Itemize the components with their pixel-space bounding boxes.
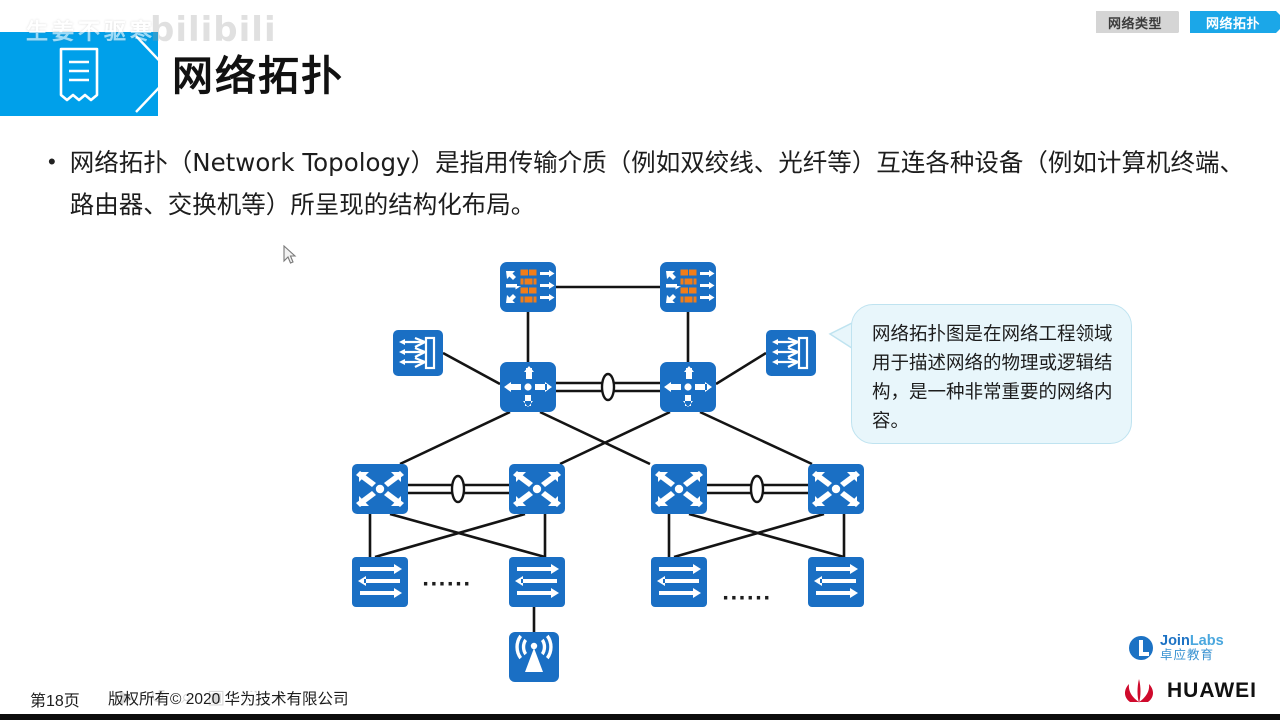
l3-switch-icon-3[interactable] bbox=[651, 464, 707, 514]
joinlabs-chinese-name: 卓应教育 bbox=[1160, 649, 1224, 662]
page-number: 第18页 bbox=[30, 687, 80, 711]
huawei-logo: HUAWEI bbox=[1120, 678, 1257, 704]
network-topology-diagram: ······ ······ bbox=[300, 232, 880, 682]
bottom-strip bbox=[0, 714, 1280, 720]
joinlabs-l-icon bbox=[1128, 635, 1154, 661]
ellipsis-left: ······ bbox=[422, 573, 471, 595]
huawei-flower-icon bbox=[1120, 678, 1158, 704]
l3-switch-icon-4[interactable] bbox=[808, 464, 864, 514]
copyright-notice: 版权所有© 2020 华为技术有限公司 bbox=[108, 687, 349, 709]
gateway-icon-left[interactable] bbox=[393, 330, 443, 376]
firewall-icon-left[interactable] bbox=[500, 262, 556, 312]
breadcrumb-label: 网络拓扑 bbox=[1206, 13, 1260, 32]
l2-switch-icon-3[interactable] bbox=[651, 557, 707, 607]
body-bullet-block: • 网络拓扑（Network Topology）是指用传输介质（例如双绞线、光纤… bbox=[48, 142, 1244, 226]
bullet-marker: • bbox=[48, 142, 56, 226]
callout-text: 网络拓扑图是在网络工程领域用于描述网络的物理或逻辑结构，是一种非常重要的网络内容… bbox=[872, 320, 1117, 436]
breadcrumb-item-network-topology[interactable]: 网络拓扑 bbox=[1190, 11, 1276, 33]
joinlabs-word-join: Join bbox=[1160, 633, 1190, 649]
l3-switch-icon-1[interactable] bbox=[352, 464, 408, 514]
firewall-icon-right[interactable] bbox=[660, 262, 716, 312]
gateway-icon-right[interactable] bbox=[766, 330, 816, 376]
document-list-icon bbox=[56, 46, 102, 104]
joinlabs-word-labs: Labs bbox=[1190, 633, 1224, 649]
l2-switch-icon-1[interactable] bbox=[352, 557, 408, 607]
body-paragraph: 网络拓扑（Network Topology）是指用传输介质（例如双绞线、光纤等）… bbox=[70, 142, 1244, 226]
ellipsis-right: ······ bbox=[722, 587, 771, 609]
breadcrumb-label: 网络类型 bbox=[1108, 13, 1162, 32]
wireless-ap-icon[interactable] bbox=[509, 632, 559, 682]
breadcrumb: 网络类型 网络拓扑 bbox=[1096, 11, 1276, 33]
huawei-wordmark: HUAWEI bbox=[1167, 679, 1257, 703]
router-icon-left[interactable] bbox=[500, 362, 556, 412]
l2-switch-icon-2[interactable] bbox=[509, 557, 565, 607]
callout-bubble: 网络拓扑图是在网络工程领域用于描述网络的物理或逻辑结构，是一种非常重要的网络内容… bbox=[851, 304, 1132, 444]
header-chevron-icon bbox=[118, 32, 172, 116]
slide-canvas: 网络类型 网络拓扑 网络拓扑 生姜不驱寒 bilibili ▶ ↺ ⌕ ▣ ⬚ … bbox=[0, 0, 1280, 720]
link-aggregation-markers bbox=[452, 374, 763, 502]
l3-switch-icon-2[interactable] bbox=[509, 464, 565, 514]
router-icon-right[interactable] bbox=[660, 362, 716, 412]
l2-switch-icon-4[interactable] bbox=[808, 557, 864, 607]
page-title: 网络拓扑 bbox=[172, 42, 344, 102]
joinlabs-logo: JoinLabs 卓应教育 bbox=[1128, 634, 1224, 662]
breadcrumb-item-network-type[interactable]: 网络类型 bbox=[1096, 11, 1178, 33]
mouse-cursor-icon bbox=[283, 245, 297, 265]
